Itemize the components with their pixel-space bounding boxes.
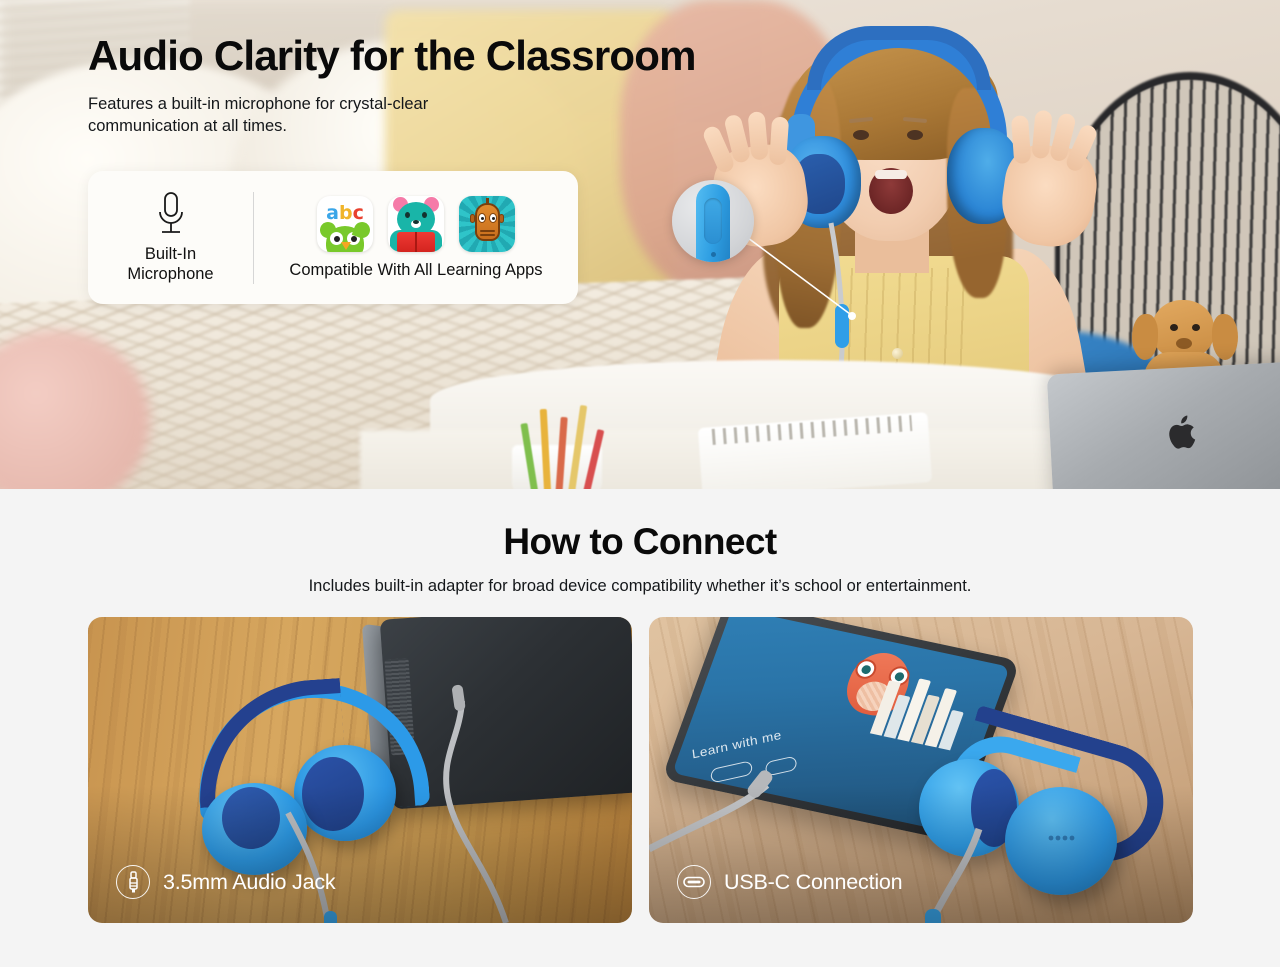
bear-nose — [413, 220, 419, 224]
letter-a: a — [326, 202, 339, 224]
audio-jack-icon — [116, 865, 150, 899]
hero-section: Audio Clarity for the Classroom Features… — [0, 0, 1280, 489]
page-title: Audio Clarity for the Classroom — [88, 34, 788, 78]
learning-apps-feature: abc — [254, 196, 578, 280]
usb-c-icon — [677, 865, 711, 899]
usb-c-caption: USB-C Connection — [677, 865, 902, 899]
headphone-headband-top — [807, 26, 991, 90]
microphone-icon — [153, 191, 189, 239]
section-title: How to Connect — [0, 521, 1280, 563]
audio-jack-label: 3.5mm Audio Jack — [163, 870, 335, 895]
letter-c: c — [353, 202, 364, 224]
inline-microphone-callout — [672, 180, 754, 262]
bear-eye — [405, 212, 410, 218]
mic-feature-label: Built-In Microphone — [127, 245, 213, 285]
hero-copy: Audio Clarity for the Classroom Features… — [88, 34, 788, 138]
section-subtitle: Includes built-in adapter for broad devi… — [0, 577, 1280, 596]
app-icon-row: abc — [317, 196, 515, 252]
abc-letters: abc — [317, 202, 373, 224]
how-to-connect-section: How to Connect Includes built-in adapter… — [0, 489, 1280, 967]
usb-c-label: USB-C Connection — [724, 870, 902, 895]
mic-label-line1: Built-In — [127, 245, 213, 265]
learning-apps-label: Compatible With All Learning Apps — [289, 261, 542, 280]
feature-card: Built-In Microphone abc — [88, 171, 578, 304]
mic-label-line2: Microphone — [127, 265, 213, 285]
bear-book — [397, 232, 435, 252]
audio-jack-caption: 3.5mm Audio Jack — [116, 865, 335, 899]
robot-eye — [489, 213, 497, 223]
brainpop-robot-app-icon — [459, 196, 515, 252]
macbook-laptop — [1047, 362, 1280, 489]
usb-c-card[interactable]: Learn with me — [649, 617, 1193, 923]
audio-jack-card[interactable]: 3.5mm Audio Jack — [88, 617, 632, 923]
robot-mouth — [480, 230, 495, 232]
child-mouth — [869, 168, 913, 214]
shirt-button — [892, 348, 903, 359]
robot-head — [475, 203, 500, 241]
built-in-microphone-feature: Built-In Microphone — [88, 191, 253, 285]
robot-mouth — [480, 234, 495, 236]
owl-mascot — [326, 226, 364, 252]
connection-cards: 3.5mm Audio Jack — [88, 617, 1193, 923]
duolingo-abc-app-icon: abc — [317, 196, 373, 252]
owl-beak — [341, 242, 351, 250]
apple-logo — [1165, 415, 1197, 453]
pencils — [520, 395, 640, 489]
inline-remote-module — [696, 184, 730, 262]
letter-b: b — [339, 202, 353, 224]
khan-academy-kids-app-icon — [388, 196, 444, 252]
hero-subtitle: Features a built-in microphone for cryst… — [88, 94, 488, 138]
product-detail-page: Audio Clarity for the Classroom Features… — [0, 0, 1280, 967]
bear-eye — [422, 212, 427, 218]
robot-eye — [478, 213, 486, 223]
